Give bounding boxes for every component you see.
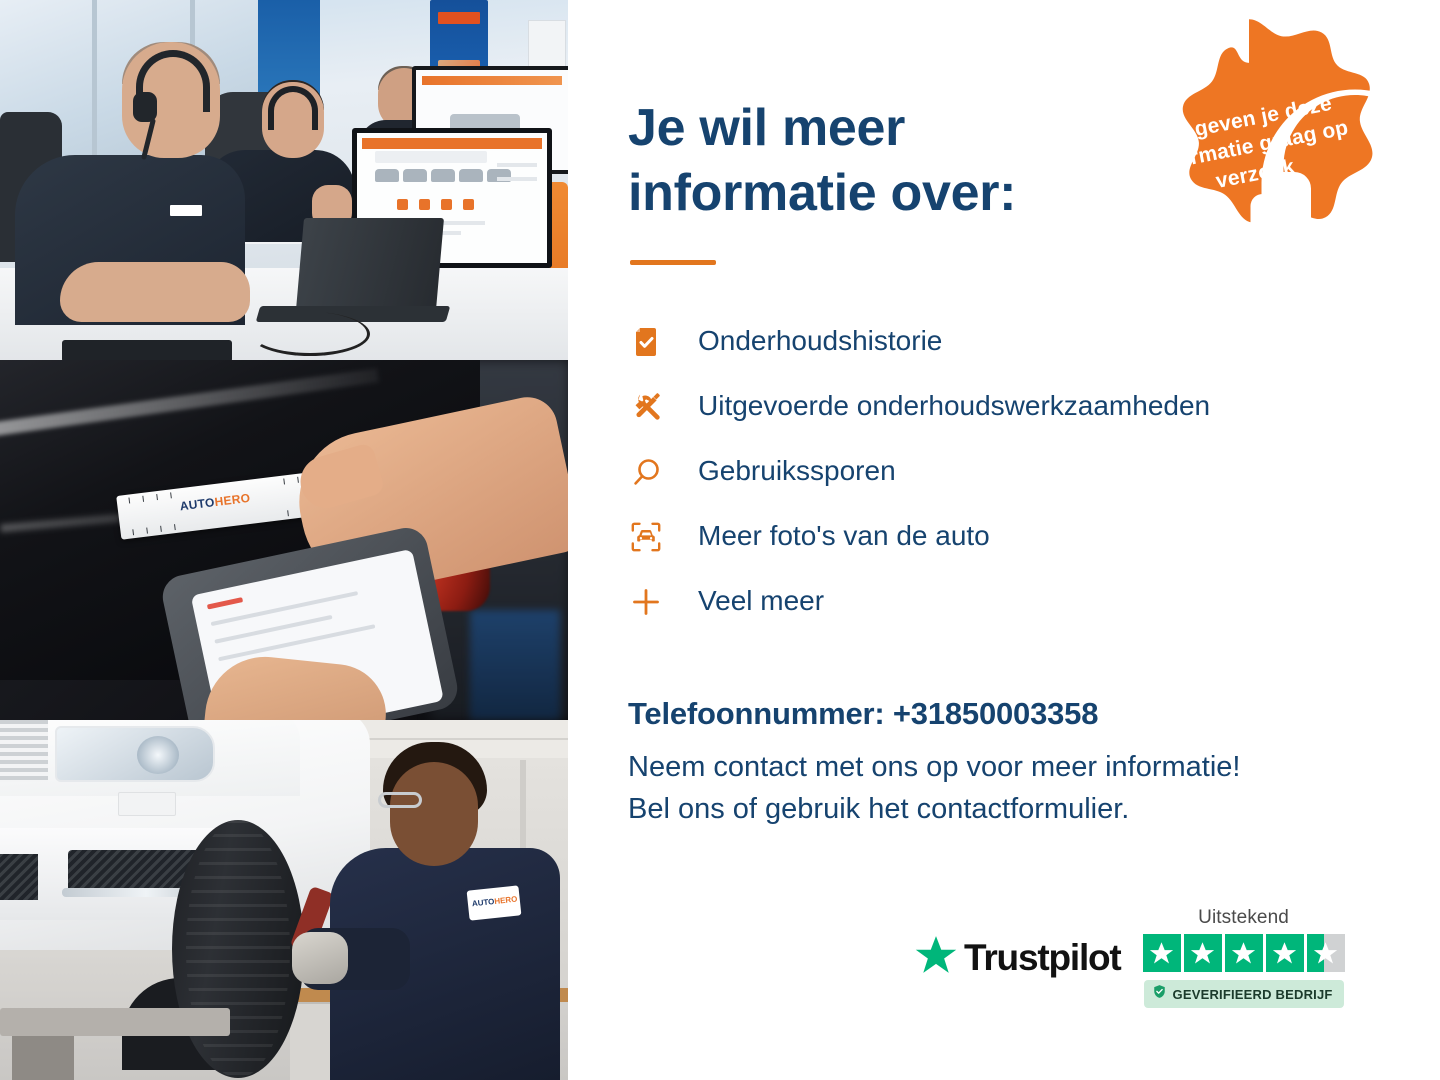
front-wheel-tyre: [172, 820, 304, 1078]
workshop-wheel-photo: AUTOHERO: [0, 720, 568, 1080]
car-lift-leg: [12, 1036, 74, 1080]
feature-item-more-photos: Meer foto's van de auto: [630, 504, 1440, 569]
laptop-screen: [296, 218, 444, 310]
title-divider: [630, 260, 716, 265]
star-half: [1307, 934, 1345, 972]
feature-list: Onderhoudshistorie: [630, 309, 1440, 634]
contact-text: Neem contact met ons op voor meer inform…: [628, 746, 1440, 830]
phone-number[interactable]: Telefoonnummer: +31850003358: [628, 696, 1440, 732]
headset-band: [268, 86, 318, 130]
star-rating: [1143, 934, 1345, 972]
trustpilot-rating: Uitstekend: [1143, 907, 1345, 1008]
wrench-screwdriver-icon: [630, 390, 676, 423]
feature-label: Gebruikssporen: [698, 456, 896, 487]
autohero-polo-logo: [170, 205, 202, 216]
plus-icon: [630, 586, 676, 618]
verified-label: GEVERIFIEERD BEDRIJF: [1173, 987, 1333, 1002]
car-scan-icon: [630, 521, 676, 553]
star-filled: [1225, 934, 1263, 972]
trustpilot-wordmark: Trustpilot: [964, 937, 1121, 979]
star-filled: [1184, 934, 1222, 972]
feature-label: Veel meer: [698, 586, 824, 617]
feature-item-much-more: Veel meer: [630, 569, 1440, 634]
feature-label: Meer foto's van de auto: [698, 521, 990, 552]
car-inspection-ruler-photo: AUTOHERO: [0, 360, 568, 720]
shield-check-icon: [1152, 984, 1167, 1004]
headline-line-1: Je wil meer: [628, 99, 905, 157]
info-on-request-badge: We geven je deze informatie graag op ver…: [1117, 14, 1381, 278]
star-filled: [1143, 934, 1181, 972]
document-check-icon: [630, 326, 676, 358]
rating-label: Uitstekend: [1198, 907, 1289, 929]
contact-line-1: Neem contact met ons op voor meer inform…: [628, 751, 1240, 783]
promo-content: We geven je deze informatie graag op ver…: [568, 0, 1440, 1080]
agent-arm: [60, 262, 250, 322]
work-glove: [292, 932, 348, 984]
desk-tablet: [62, 340, 232, 360]
headset-earcup: [133, 92, 157, 122]
ruler-brand: AUTOHERO: [179, 491, 251, 514]
magnifier-icon: [630, 456, 676, 488]
star-filled: [1266, 934, 1304, 972]
background-blue: [470, 610, 560, 720]
mechanic-head: [390, 762, 478, 866]
page-title: Je wil meer informatie over:: [628, 96, 1148, 226]
license-plate-area: [118, 792, 176, 816]
trustpilot-logo: Trustpilot: [915, 934, 1121, 981]
trustpilot-star-icon: [915, 934, 957, 981]
trustpilot-widget[interactable]: Trustpilot Uitstekend: [915, 907, 1345, 1008]
autohero-polo-logo: AUTOHERO: [467, 885, 522, 920]
feature-label: Uitgevoerde onderhoudswerkzaamheden: [698, 391, 1210, 422]
car-headlight: [55, 726, 215, 782]
feature-label: Onderhoudshistorie: [698, 326, 942, 357]
promo-page: AUTOHERO: [0, 0, 1440, 1080]
headline-line-2: informatie over:: [628, 164, 1016, 222]
feature-item-wear-traces: Gebruikssporen: [630, 439, 1440, 504]
mechanic-glasses: [378, 792, 422, 808]
bumper-vent: [0, 854, 38, 900]
verified-business-badge: GEVERIFIEERD BEDRIJF: [1144, 980, 1344, 1008]
feature-item-maintenance-work: Uitgevoerde onderhoudswerkzaamheden: [630, 374, 1440, 439]
car-lift: [0, 1008, 230, 1036]
photo-gallery: AUTOHERO: [0, 0, 568, 1080]
callcenter-agents-photo: [0, 0, 568, 360]
desk-cable: [250, 312, 370, 356]
car-grille: [0, 720, 48, 782]
contact-line-2: Bel ons of gebruik het contactformulier.: [628, 793, 1129, 825]
